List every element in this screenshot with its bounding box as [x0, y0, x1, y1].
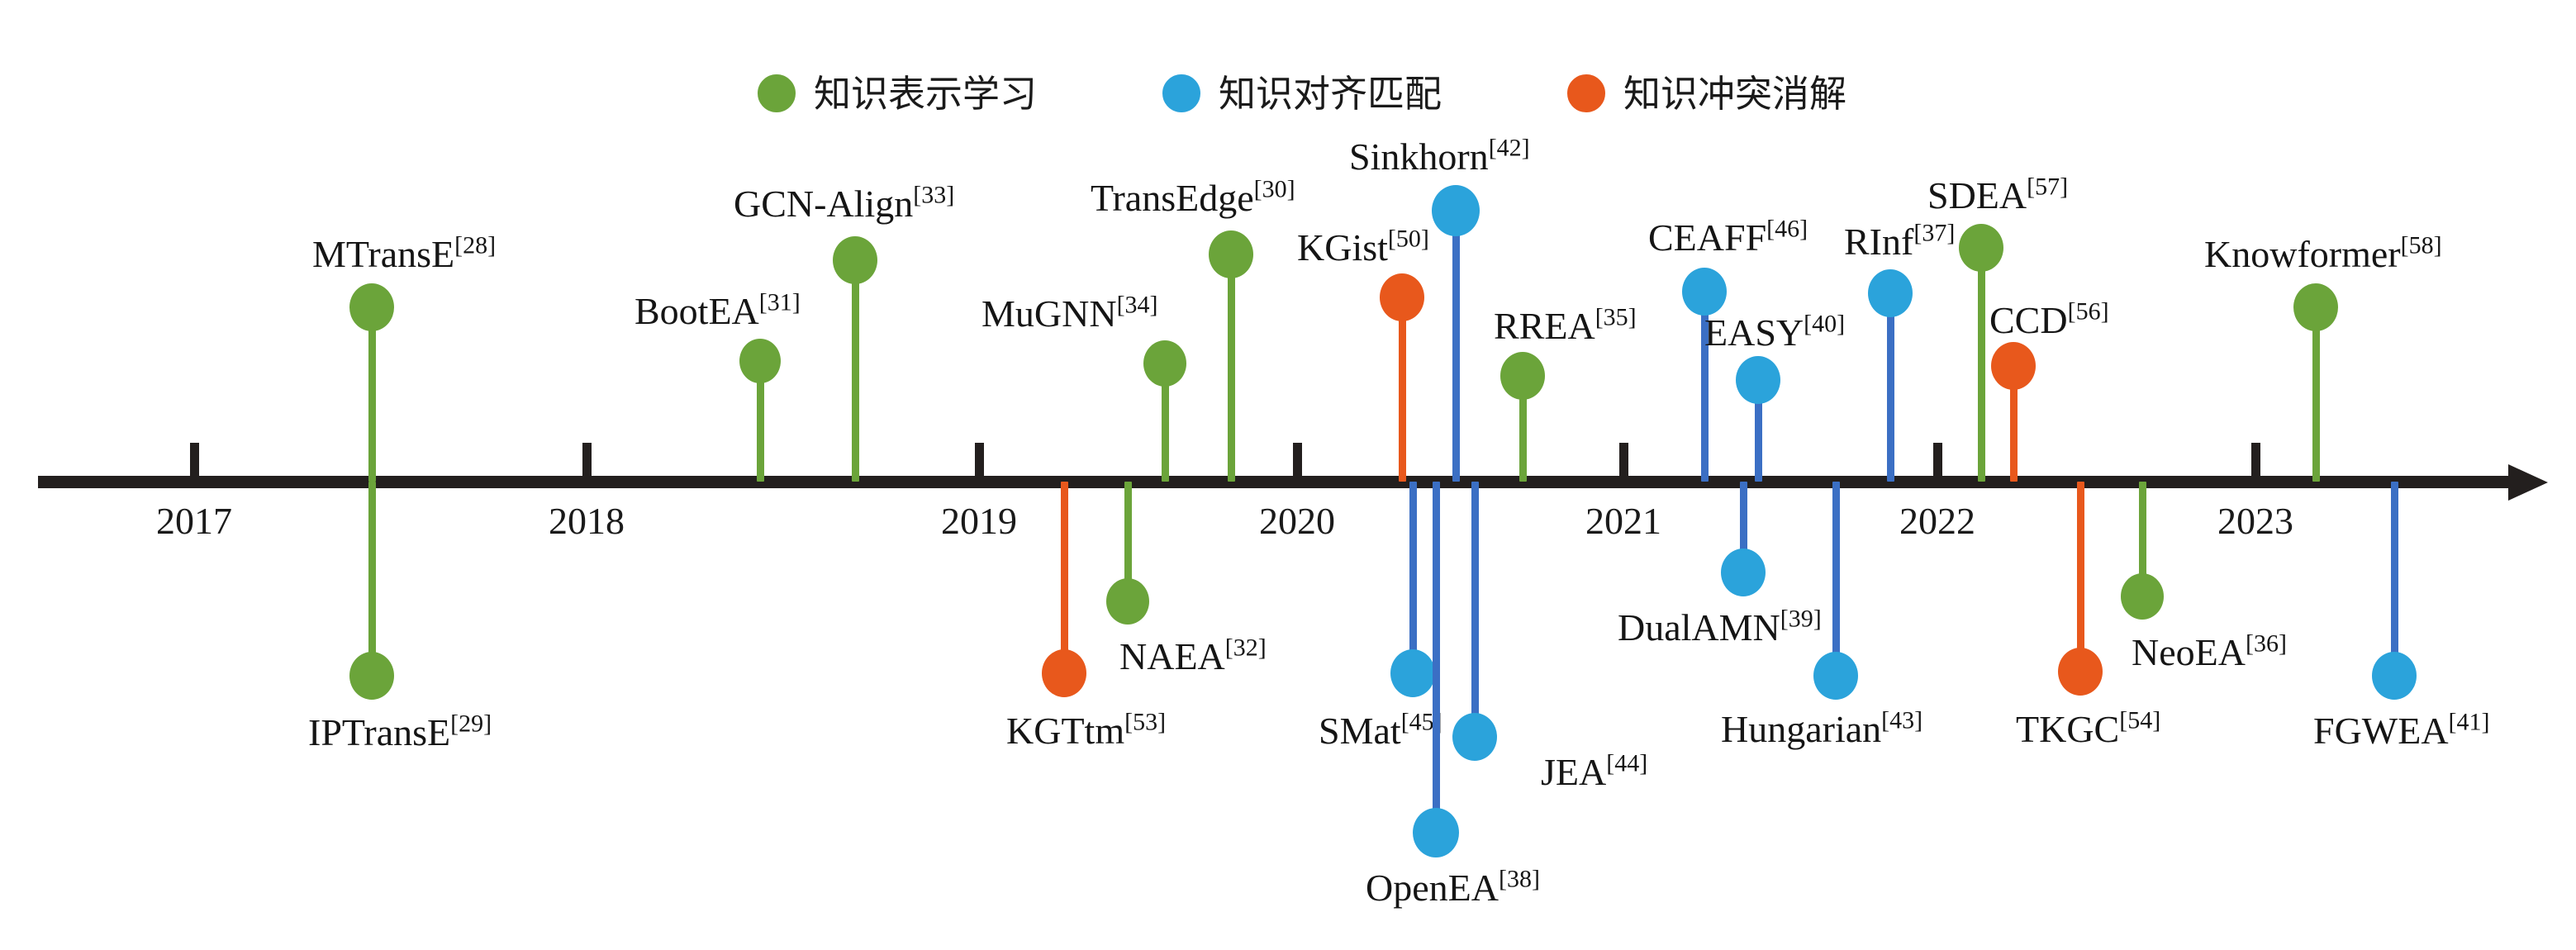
event-reference: [38]	[1499, 866, 1540, 893]
event-node-marker-icon[interactable]	[1413, 808, 1459, 857]
event-reference: [57]	[2027, 173, 2068, 201]
event-name: FGWEA	[2313, 710, 2449, 752]
event-reference: [46]	[1766, 216, 1808, 243]
event-label: CCD[56]	[1989, 300, 2109, 341]
event-label: SDEA[57]	[1927, 175, 2068, 216]
event-label: CEAFF[46]	[1648, 217, 1808, 259]
event-reference: [44]	[1606, 750, 1647, 777]
event-reference: [29]	[450, 710, 492, 738]
event-label: NAEA[32]	[1119, 636, 1267, 677]
axis-tick-1	[190, 443, 199, 477]
axis-year-label-2022: 2022	[1899, 502, 1975, 540]
event-reference: [33]	[913, 182, 954, 209]
event-reference: [35]	[1595, 304, 1637, 331]
legend: 知识表示学习知识对齐匹配知识冲突消解	[0, 33, 2576, 91]
legend-item-label: 知识冲突消解	[1623, 75, 1846, 112]
event-stem	[1978, 248, 1985, 482]
event-name: MTransE	[312, 233, 454, 275]
event-label: MTransE[28]	[312, 234, 496, 275]
event-name: RREA	[1494, 305, 1595, 347]
event-reference: [32]	[1225, 634, 1267, 662]
event-label: KGTtm[53]	[1006, 710, 1166, 752]
event-label: EASY[40]	[1704, 312, 1845, 354]
event-name: OpenEA	[1366, 867, 1499, 909]
event-reference: [30]	[1254, 176, 1295, 203]
event-reference: [36]	[2246, 630, 2287, 658]
axis-year-label-2021: 2021	[1585, 502, 1661, 540]
event-label: BootEA[31]	[634, 291, 801, 332]
event-label: Sinkhorn[42]	[1349, 136, 1530, 178]
event-stem	[852, 260, 859, 482]
legend-item-label: 知识对齐匹配	[1219, 75, 1442, 112]
event-node-marker-icon[interactable]	[1813, 652, 1858, 700]
axis-tick-2	[582, 443, 592, 477]
event-stem	[368, 307, 376, 482]
event-name: CCD	[1989, 299, 2068, 341]
event-node-marker-icon[interactable]	[1991, 342, 2036, 390]
event-reference: [28]	[454, 232, 496, 259]
event-node-marker-icon[interactable]	[349, 283, 394, 331]
event-reference: [39]	[1780, 606, 1822, 633]
event-label: SMat[45]	[1319, 710, 1442, 752]
event-label: IPTransE[29]	[308, 712, 492, 753]
axis-year-label-2019: 2019	[941, 502, 1017, 540]
axis-year-label-2023: 2023	[2217, 502, 2293, 540]
event-stem	[1452, 211, 1460, 482]
event-reference: [56]	[2068, 298, 2109, 325]
event-node-marker-icon[interactable]	[349, 652, 394, 700]
axis-tick-6	[1933, 443, 1942, 477]
event-node-marker-icon[interactable]	[1432, 185, 1480, 236]
event-reference: [41]	[2449, 709, 2490, 736]
event-node-marker-icon[interactable]	[2372, 652, 2417, 700]
event-node-marker-icon[interactable]	[1868, 269, 1913, 317]
event-stem	[1061, 482, 1068, 673]
event-reference: [40]	[1804, 311, 1845, 338]
event-label: Knowformer[58]	[2204, 234, 2442, 275]
event-name: MuGNN	[981, 292, 1117, 335]
event-stem	[1471, 482, 1479, 737]
event-label: DualAMN[39]	[1618, 607, 1822, 648]
event-node-marker-icon[interactable]	[1736, 356, 1780, 404]
event-label: TKGC[54]	[2016, 709, 2160, 750]
event-node-marker-icon[interactable]	[833, 236, 877, 284]
event-name: SMat	[1319, 710, 1401, 752]
event-stem	[1433, 482, 1440, 833]
event-node-marker-icon[interactable]	[2121, 573, 2164, 620]
legend-item-label: 知识表示学习	[814, 75, 1037, 112]
event-name: IPTransE	[308, 711, 450, 753]
event-stem	[2391, 482, 2398, 676]
event-name: JEA	[1541, 751, 1606, 793]
event-label: NeoEA[36]	[2132, 632, 2287, 673]
event-name: KGTtm	[1006, 710, 1124, 752]
event-label: RInf[37]	[1844, 221, 1955, 263]
event-stem	[368, 482, 376, 676]
legend-item-3: 知识冲突消解	[1567, 74, 1846, 112]
event-label: OpenEA[38]	[1366, 867, 1540, 909]
event-node-marker-icon[interactable]	[1143, 340, 1186, 387]
axis-year-label-2018: 2018	[549, 502, 625, 540]
axis-year-label-2017: 2017	[156, 502, 232, 540]
event-reference: [37]	[1913, 220, 1955, 247]
axis-tick-3	[975, 443, 984, 477]
timeline-axis-arrow-icon	[2508, 464, 2548, 501]
event-label: RREA[35]	[1494, 306, 1637, 347]
event-stem	[1228, 254, 1235, 482]
event-label: GCN-Align[33]	[734, 183, 954, 225]
circle-marker-icon	[758, 74, 796, 112]
event-label: JEA[44]	[1541, 752, 1647, 793]
axis-tick-5	[1619, 443, 1628, 477]
event-name: CEAFF	[1648, 216, 1766, 259]
event-stem	[1832, 482, 1840, 676]
event-reference: [53]	[1124, 709, 1166, 736]
event-name: Knowformer	[2204, 233, 2401, 275]
event-name: EASY	[1704, 311, 1804, 354]
axis-tick-4	[1293, 443, 1302, 477]
axis-year-label-2020: 2020	[1259, 502, 1335, 540]
event-stem	[1399, 297, 1406, 482]
axis-tick-7	[2251, 443, 2260, 477]
event-name: BootEA	[634, 290, 759, 332]
event-name: RInf	[1844, 221, 1913, 263]
event-node-marker-icon[interactable]	[739, 339, 781, 383]
event-node-marker-icon[interactable]	[2058, 648, 2103, 696]
circle-marker-icon	[1567, 74, 1605, 112]
event-reference: [54]	[2119, 707, 2160, 734]
event-stem	[2312, 307, 2320, 482]
event-name: Sinkhorn	[1349, 135, 1489, 178]
event-name: DualAMN	[1618, 606, 1780, 648]
event-reference: [58]	[2401, 232, 2442, 259]
event-name: TransEdge	[1091, 177, 1254, 219]
event-node-marker-icon[interactable]	[1959, 224, 2003, 272]
event-reference: [34]	[1117, 292, 1158, 319]
event-label: Hungarian[43]	[1721, 709, 1922, 750]
event-node-marker-icon[interactable]	[1452, 713, 1497, 761]
event-node-marker-icon[interactable]	[1500, 352, 1545, 400]
event-node-marker-icon[interactable]	[1721, 549, 1766, 596]
event-node-marker-icon[interactable]	[1042, 649, 1086, 697]
event-stem	[1887, 293, 1894, 482]
event-name: KGist	[1297, 226, 1388, 268]
event-name: GCN-Align	[734, 183, 913, 225]
event-name: SDEA	[1927, 174, 2027, 216]
event-name: TKGC	[2016, 708, 2119, 750]
event-name: NAEA	[1119, 635, 1225, 677]
event-stem	[1409, 482, 1417, 673]
event-node-marker-icon[interactable]	[1682, 268, 1727, 316]
event-node-marker-icon[interactable]	[1106, 578, 1149, 625]
event-node-marker-icon[interactable]	[2293, 283, 2338, 331]
event-reference: [42]	[1489, 135, 1530, 162]
event-reference: [50]	[1388, 226, 1429, 253]
legend-item-2: 知识对齐匹配	[1162, 74, 1442, 112]
event-node-marker-icon[interactable]	[1390, 649, 1435, 697]
event-name: Hungarian	[1721, 708, 1881, 750]
event-reference: [31]	[759, 289, 801, 316]
event-name: NeoEA	[2132, 631, 2246, 673]
event-reference: [43]	[1881, 707, 1922, 734]
legend-item-1: 知识表示学习	[758, 74, 1037, 112]
event-node-marker-icon[interactable]	[1209, 230, 1253, 278]
event-label: TransEdge[30]	[1091, 178, 1295, 219]
event-label: FGWEA[41]	[2313, 710, 2490, 752]
event-label: KGist[50]	[1297, 227, 1429, 268]
circle-marker-icon	[1162, 74, 1200, 112]
event-node-marker-icon[interactable]	[1380, 273, 1424, 321]
event-label: MuGNN[34]	[981, 293, 1158, 335]
event-stem	[2077, 482, 2084, 672]
